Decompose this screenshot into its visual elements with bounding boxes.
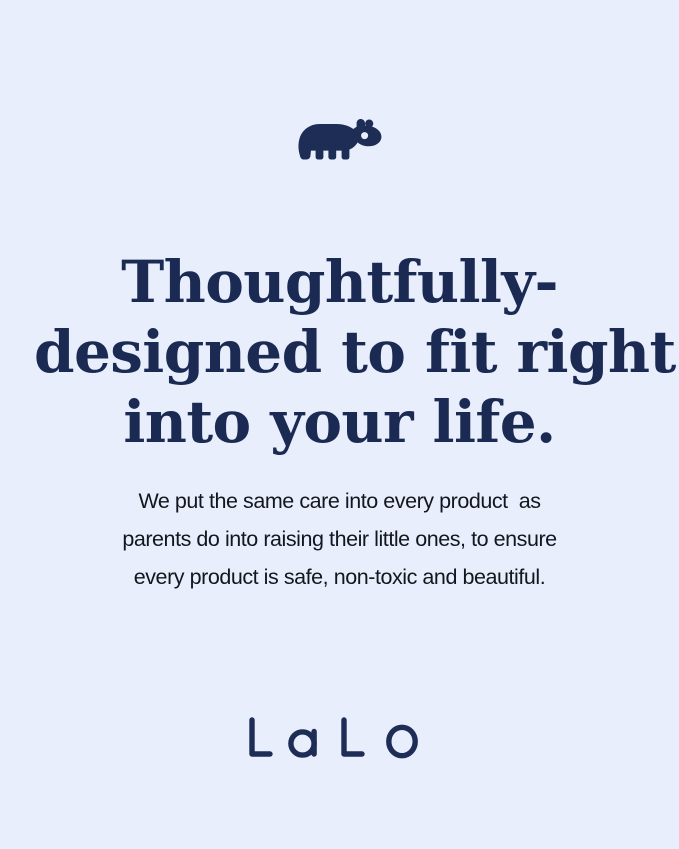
body-line-3: every product is safe, non-toxic and bea…	[60, 558, 619, 596]
page-title: Thoughtfully- designed to fit right into…	[0, 247, 679, 457]
hippo-icon	[297, 118, 383, 172]
body-line-1: We put the same care into every product …	[60, 482, 619, 520]
headline-line-3: into your life.	[34, 387, 645, 457]
body-line-2: parents do into raising their little one…	[60, 520, 619, 558]
headline-line-1: Thoughtfully-	[34, 247, 645, 317]
lalo-wordmark-icon	[240, 710, 440, 766]
headline-line-2: designed to fit right	[34, 317, 645, 387]
promo-poster: Thoughtfully- designed to fit right into…	[0, 0, 679, 849]
body-paragraph: We put the same care into every product …	[0, 482, 679, 596]
